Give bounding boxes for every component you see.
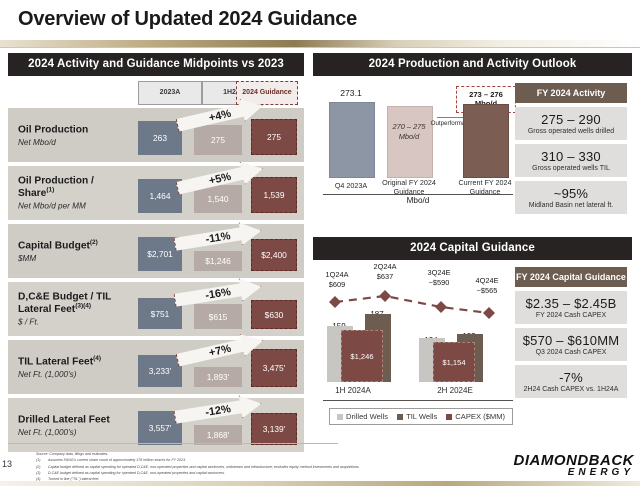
production-axis-title: Mbo/d (323, 196, 513, 205)
bar-current-guidance (463, 104, 509, 178)
bar-original-guidance (387, 106, 433, 178)
table-row: Oil Production Net Mbo/d 263 275 275 +4% (8, 108, 304, 162)
activity-caption: Midland Basin net lateral ft. (517, 202, 625, 209)
bar-2023a: 1,464 (138, 179, 182, 213)
fy2024-activity-box: FY 2024 Activity 275 – 290 Gross operate… (515, 83, 627, 214)
capital-value: $570 – $610MM (517, 333, 625, 348)
legend-item-capex[interactable]: CAPEX ($MM) (446, 412, 505, 421)
row-metric-name: Drilled Lateral Feet (18, 414, 110, 425)
row-label: Drilled Lateral Feet Net Ft. (1,000's) (18, 413, 130, 437)
activity-value: 310 – 330 (517, 149, 625, 164)
legend-label: Drilled Wells (346, 412, 388, 421)
title-divider (0, 40, 640, 48)
column-header-2023a: 2023A (138, 81, 202, 105)
footnotes: Source: Company data, filings and estima… (36, 451, 506, 482)
activity-value: ~95% (517, 186, 625, 201)
capital-box-header: FY 2024 Capital Guidance (515, 267, 627, 287)
production-x-axis (323, 194, 513, 195)
bar-capex-2h: $1,154 (433, 342, 475, 382)
table-row: D,C&E Budget / TIL Lateral Feet(3)(4) $ … (8, 282, 304, 336)
company-logo: DIAMONDBACK ENERGY (514, 452, 635, 478)
row-unit: Net Ft. (1,000's) (18, 428, 130, 437)
slide: Overview of Updated 2024 Guidance 2024 A… (0, 0, 640, 486)
group-label-2h-2024e: 2H 2024E (425, 386, 485, 396)
capital-x-axis (323, 400, 513, 401)
bar-1h24a: 1,893' (194, 367, 242, 387)
activity-item: 275 – 290 Gross operated wells drilled (515, 107, 627, 140)
activity-caption: Gross operated wells TIL (517, 165, 625, 172)
row-unit: Net Mbo/d (18, 138, 130, 147)
legend-item-drilled-wells[interactable]: Drilled Wells (337, 412, 388, 421)
bar-2024-guidance: 3,475' (251, 349, 297, 387)
legend-item-til-wells[interactable]: TIL Wells (397, 412, 437, 421)
bar-2023a: 3,233' (138, 355, 182, 387)
page-number: 13 (2, 459, 12, 469)
row-footnote-ref: (3)(4) (75, 303, 91, 310)
bar-label-q4-2023a: Q4 2023A (319, 181, 383, 190)
footnote-text: Capital budget defined as capital spendi… (48, 465, 360, 469)
legend-swatch-icon (397, 414, 403, 420)
bar-q4-2023a (329, 102, 375, 178)
group-label-1h-2024a: 1H 2024A (323, 386, 383, 396)
capital-caption: Q3 2024 Cash CAPEX (517, 349, 625, 356)
row-label: D,C&E Budget / TIL Lateral Feet(3)(4) $ … (18, 291, 130, 326)
activity-value: 275 – 290 (517, 112, 625, 127)
legend-swatch-icon (446, 414, 452, 420)
row-unit: Net Mbo/d per MM (18, 202, 130, 211)
bar-2024-guidance: 3,139' (251, 413, 297, 445)
legend-swatch-icon (337, 414, 343, 420)
bar-value-q4-2023a: 273.1 (323, 88, 379, 98)
row-unit: Net Ft. (1,000's) (18, 370, 130, 379)
capital-value: $2.35 – $2.45B (517, 296, 625, 311)
row-unit: $ / Ft. (18, 318, 130, 327)
activity-box-header: FY 2024 Activity (515, 83, 627, 103)
legend-label: TIL Wells (406, 412, 437, 421)
row-metric-name: Oil Production (18, 124, 88, 135)
capital-caption: 2H24 Cash CAPEX vs. 1H24A (517, 386, 625, 393)
activity-caption: Gross operated wells drilled (517, 128, 625, 135)
metric-rows: Oil Production Net Mbo/d 263 275 275 +4%… (8, 108, 304, 452)
bar-2023a: 263 (138, 121, 182, 155)
capital-caption: FY 2024 Cash CAPEX (517, 312, 625, 319)
quarter-name: 3Q24E (417, 268, 461, 278)
bottom-divider (0, 481, 640, 486)
bar-1h24a: $615 (194, 304, 242, 329)
row-metric-name: TIL Lateral Feet (18, 356, 93, 367)
quarter-label-2q24a: 2Q24A $637 (363, 262, 407, 281)
table-row: TIL Lateral Feet(4) Net Ft. (1,000's) 3,… (8, 340, 304, 394)
table-row: Oil Production / Share(1) Net Mbo/d per … (8, 166, 304, 220)
capital-item: -7% 2H24 Cash CAPEX vs. 1H24A (515, 365, 627, 398)
capital-item: $2.35 – $2.45B FY 2024 Cash CAPEX (515, 291, 627, 324)
capital-value: -7% (517, 370, 625, 385)
column-headers: 2023A 1H24A 2024 Guidance (8, 80, 304, 107)
row-footnote-ref: (2) (90, 239, 98, 246)
row-unit: $MM (18, 254, 130, 263)
production-outlook-panel: 2024 Production and Activity Outlook 273… (313, 53, 632, 200)
bar-1h24a: 1,868' (194, 425, 242, 445)
row-metric-name: D,C&E Budget / TIL Lateral Feet (18, 291, 111, 315)
quarter-name: 2Q24A (363, 262, 407, 272)
capital-item: $570 – $610MM Q3 2024 Cash CAPEX (515, 328, 627, 361)
footnote-text: D,C&E budget defined as capital spending… (48, 471, 225, 475)
row-label: Oil Production Net Mbo/d (18, 123, 130, 147)
bar-2024-guidance: $630 (251, 300, 297, 329)
bar-1h24a: 275 (194, 125, 242, 155)
footnote-text: Assumes FANG's current share count of ap… (48, 458, 186, 462)
activity-item: 310 – 330 Gross operated wells TIL (515, 144, 627, 177)
activity-item: ~95% Midland Basin net lateral ft. (515, 181, 627, 214)
production-panel-header: 2024 Production and Activity Outlook (313, 53, 632, 76)
activity-guidance-panel: 2024 Activity and Guidance Midpoints vs … (8, 53, 304, 456)
legend-label: CAPEX ($MM) (455, 412, 505, 421)
row-label: Capital Budget(2) $MM (18, 239, 130, 263)
footer-divider (8, 443, 338, 444)
bar-1h24a: $1,246 (194, 251, 242, 271)
bar-2024-guidance: 1,539 (251, 177, 297, 213)
left-panel-header: 2024 Activity and Guidance Midpoints vs … (8, 53, 304, 76)
quarter-name: 1Q24A (315, 270, 359, 280)
capital-chart-legend[interactable]: Drilled Wells TIL Wells CAPEX ($MM) (329, 408, 513, 425)
row-footnote-ref: (4) (93, 355, 101, 362)
bar-2024-guidance: $2,400 (251, 239, 297, 271)
capital-panel-header: 2024 Capital Guidance (313, 237, 632, 260)
row-metric-name: Oil Production / Share (18, 175, 94, 199)
row-footnote-ref: (1) (46, 187, 54, 194)
quarter-value: $637 (363, 272, 407, 282)
page-title: Overview of Updated 2024 Guidance (18, 8, 357, 31)
table-row: Capital Budget(2) $MM $2,701 $1,246 $2,4… (8, 224, 304, 278)
capital-guidance-panel: 2024 Capital Guidance 1Q24A $609 2Q24A $… (313, 237, 632, 420)
fy2024-capital-guidance-box: FY 2024 Capital Guidance $2.35 – $2.45B … (515, 267, 627, 398)
bar-capex-1h: $1,246 (341, 330, 383, 382)
delta-badge: -12% (173, 392, 264, 428)
row-label: TIL Lateral Feet(4) Net Ft. (1,000's) (18, 355, 130, 379)
bar-2024-guidance: 275 (251, 119, 297, 155)
row-metric-name: Capital Budget (18, 240, 90, 251)
row-label: Oil Production / Share(1) Net Mbo/d per … (18, 175, 130, 210)
